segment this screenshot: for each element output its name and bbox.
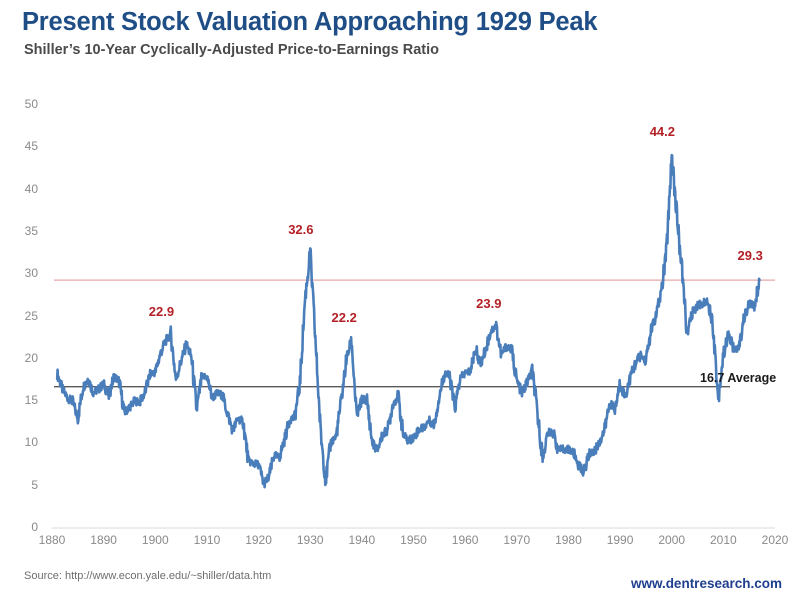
cape-ratio-line-chart: [0, 0, 800, 600]
x-tick-label: 2000: [647, 533, 697, 547]
reference-lines: [54, 280, 775, 387]
chart-page: Present Stock Valuation Approaching 1929…: [0, 0, 800, 600]
series-group: [57, 155, 759, 487]
x-tick-label: 1900: [130, 533, 180, 547]
x-tick-label: 1890: [79, 533, 129, 547]
x-tick-label: 1980: [543, 533, 593, 547]
peak-annotation-22-2: 22.2: [332, 310, 357, 325]
y-tick-label: 40: [8, 182, 38, 196]
y-tick-label: 50: [8, 97, 38, 111]
source-note: Source: http://www.econ.yale.edu/~shille…: [24, 570, 271, 582]
x-tick-label: 1920: [234, 533, 284, 547]
peak-annotation-23-9: 23.9: [476, 296, 501, 311]
peak-annotation-32-6: 32.6: [288, 222, 313, 237]
x-tick-label: 1930: [285, 533, 335, 547]
y-tick-label: 35: [8, 224, 38, 238]
x-tick-label: 1960: [440, 533, 490, 547]
y-tick-label: 25: [8, 309, 38, 323]
y-tick-label: 0: [8, 520, 38, 534]
peak-annotation-29-3: 29.3: [738, 248, 763, 263]
x-tick-label: 1950: [389, 533, 439, 547]
website-link[interactable]: www.dentresearch.com: [631, 576, 782, 591]
y-tick-label: 45: [8, 139, 38, 153]
y-tick-label: 20: [8, 351, 38, 365]
x-tick-label: 1910: [182, 533, 232, 547]
cape-ratio-series-line: [57, 155, 759, 487]
x-tick-label: 2010: [698, 533, 748, 547]
peak-annotation-44-2: 44.2: [650, 124, 675, 139]
x-tick-label: 1940: [337, 533, 387, 547]
y-tick-label: 5: [8, 478, 38, 492]
average-line-label: 16.7 Average: [700, 371, 776, 385]
y-tick-label: 30: [8, 266, 38, 280]
x-tick-label: 1970: [492, 533, 542, 547]
peak-annotation-22-9: 22.9: [149, 304, 174, 319]
footer-divider: [0, 560, 800, 561]
x-tick-label: 1880: [27, 533, 77, 547]
x-tick-label: 1990: [595, 533, 645, 547]
chart-plot-area: [0, 0, 800, 600]
y-tick-label: 10: [8, 435, 38, 449]
y-tick-label: 15: [8, 393, 38, 407]
x-tick-label: 2020: [750, 533, 800, 547]
